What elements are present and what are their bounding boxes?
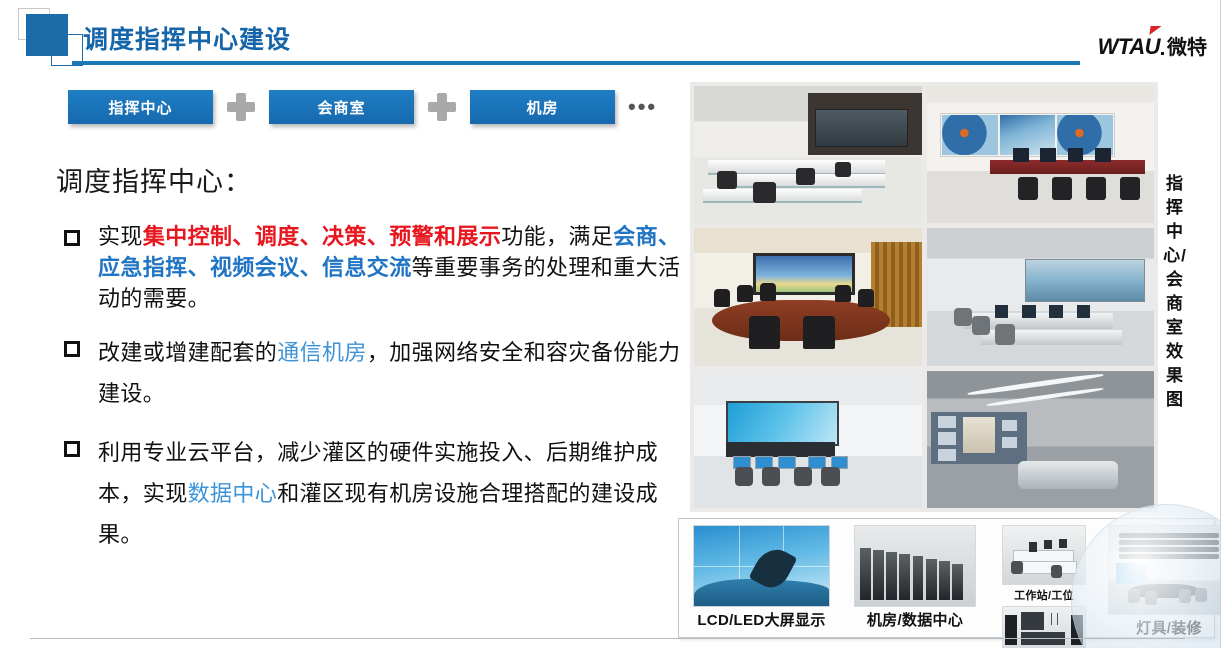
server-rack-icon: [854, 525, 976, 607]
bullet-item: 利用专业云平台，减少灌区的硬件实施投入、后期维护成本，实现数据中心和灌区现有机房…: [56, 432, 686, 555]
strip-item-datacenter[interactable]: 机房/数据中心: [854, 525, 976, 630]
brand-logo: WTAU 微特: [1098, 36, 1207, 58]
chip-consultation-room[interactable]: 会商室: [269, 90, 414, 124]
chips-more-ellipsis[interactable]: •••: [628, 100, 657, 113]
flow-chips-row: 指挥中心 会商室 机房 •••: [68, 90, 657, 124]
audio-system-icon: [1002, 606, 1086, 648]
logo-latin-text: WTAU: [1098, 36, 1160, 58]
title-underline: [72, 61, 1080, 65]
strip-item-lighting-decor[interactable]: 灯具/装修: [1108, 525, 1221, 638]
gallery-photo-small-room-blue-screen[interactable]: [694, 371, 922, 508]
workstation-icon: [1002, 525, 1086, 585]
plus-icon: [425, 90, 459, 124]
lighting-decor-icon: [1108, 525, 1221, 615]
gallery-photo-gray-operations-room[interactable]: [927, 228, 1155, 365]
bullet-square-icon: [64, 441, 80, 457]
gallery-photo-map-video-wall[interactable]: [927, 86, 1155, 223]
bullet-seg-highlight-blue: 通信机房: [277, 340, 367, 365]
gallery-photo-conference-room[interactable]: [694, 228, 922, 365]
bullet-text: 实现集中控制、调度、决策、预警和展示功能，满足会商、应急指挥、视频会议、信息交流…: [98, 221, 686, 314]
bullet-item: 改建或增建配套的通信机房，加强网络安全和容灾备份能力建设。: [56, 332, 686, 414]
chip-command-center[interactable]: 指挥中心: [68, 90, 213, 124]
logo-flag-icon: [1149, 26, 1161, 35]
chip-machine-room[interactable]: 机房: [470, 90, 615, 124]
gallery-photo-open-plan-control-room[interactable]: [694, 86, 922, 223]
strip-item-label: 机房/数据中心: [867, 609, 963, 630]
bullet-seg-highlight-blue: 数据中心: [188, 481, 278, 506]
video-wall-icon: [693, 525, 830, 607]
strip-item-label: 工作站/工位: [1014, 587, 1074, 603]
strip-item-label: 灯具/装修: [1136, 617, 1202, 638]
components-strip: LCD/LED大屏显示 机房/数据中心: [678, 518, 1215, 638]
slide-canvas: 调度指挥中心建设 WTAU 微特 指挥中心 会商室 机房 ••• 调度指挥中心：…: [0, 0, 1221, 648]
bullet-seg: 实现: [98, 224, 143, 249]
bullet-text: 改建或增建配套的通信机房，加强网络安全和容灾备份能力建设。: [98, 332, 686, 414]
strip-item-workstation-audio[interactable]: 工作站/工位 音控系统: [1002, 525, 1086, 648]
bullet-square-icon: [64, 230, 80, 246]
logo-dot-icon: [1161, 52, 1164, 55]
bullet-item: 实现集中控制、调度、决策、预警和展示功能，满足会商、应急指挥、视频会议、信息交流…: [56, 221, 686, 314]
gallery-vertical-caption: 指挥中心/会商室效果图: [1162, 172, 1188, 412]
bullet-seg-highlight-red: 集中控制、调度、决策、预警和展示: [143, 224, 501, 249]
bullet-square-icon: [64, 341, 80, 357]
section-title: 调度指挥中心：: [56, 160, 686, 199]
content-body: 调度指挥中心： 实现集中控制、调度、决策、预警和展示功能，满足会商、应急指挥、视…: [56, 160, 686, 573]
strip-item-lcd[interactable]: LCD/LED大屏显示: [693, 525, 830, 630]
page-title: 调度指挥中心建设: [83, 20, 291, 56]
footer-divider: [30, 638, 1185, 639]
bullet-seg: 功能，满足: [501, 224, 613, 249]
logo-cn-text: 微特: [1167, 38, 1207, 58]
gallery-panel: [690, 82, 1158, 512]
gallery-photo-dark-dispatch-room[interactable]: [927, 371, 1155, 508]
bullet-seg: 改建或增建配套的: [98, 340, 277, 365]
gallery-grid: [694, 86, 1154, 508]
strip-item-label: LCD/LED大屏显示: [697, 609, 825, 630]
bullet-text: 利用专业云平台，减少灌区的硬件实施投入、后期维护成本，实现数据中心和灌区现有机房…: [98, 432, 686, 555]
plus-icon: [224, 90, 258, 124]
